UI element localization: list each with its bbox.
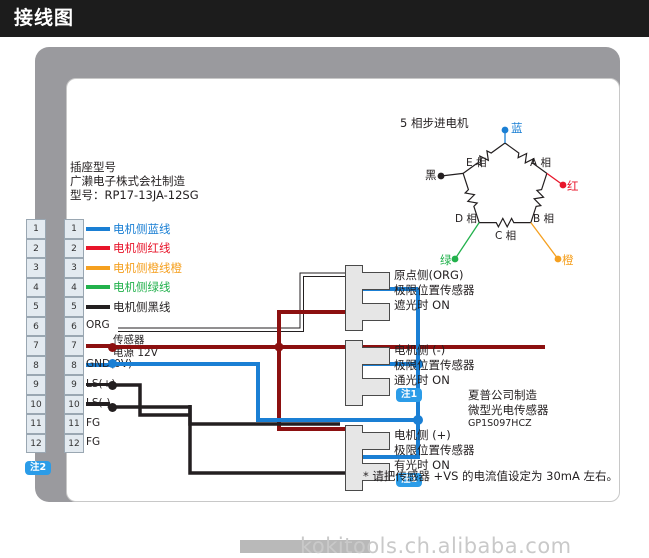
motor-lead-label-蓝: 蓝 (511, 121, 523, 136)
sensor-maker-model: GP1S097HCZ (468, 418, 532, 430)
watermark: kokitools.ch.alibaba.com (300, 534, 572, 558)
motor-phase-label-D 相: D 相 (455, 213, 477, 226)
sensor-maker-line1: 夏普公司制造 (468, 388, 537, 403)
motor-lead-dot-橙 (555, 256, 562, 263)
motor-lead-label-黑: 黑 (425, 168, 437, 183)
motor-pentagon-svg (0, 37, 649, 533)
motor-lead-dot-黑 (438, 173, 445, 180)
motor-lead-label-红: 红 (567, 179, 579, 194)
motor-lead-dot-红 (560, 182, 567, 189)
page-title: 接线图 (14, 6, 74, 30)
motor-phase-label-A 相: A 相 (530, 157, 551, 170)
motor-coil-edge-3 (479, 218, 531, 226)
diagram-canvas: 插座型号 广濑电子株式会社制造 型号：RP17-13JA-12SG 123456… (0, 37, 649, 533)
motor-phase-label-C 相: C 相 (495, 230, 516, 243)
motor-lead-label-橙: 橙 (562, 253, 574, 268)
motor-lead-橙 (531, 223, 558, 259)
motor-lead-label-绿: 绿 (440, 253, 452, 268)
sensor-maker-line2: 微型光电传感器 (468, 403, 549, 418)
header-bar: 接线图 (0, 0, 649, 37)
motor-phase-label-B 相: B 相 (533, 213, 554, 226)
motor-lead-dot-蓝 (502, 127, 509, 134)
footnote: * 请把传感器 +VS 的电流值设定为 30mA 左右。 (363, 469, 618, 484)
motor-lead-dot-绿 (452, 256, 459, 263)
motor-phase-label-E 相: E 相 (466, 157, 486, 170)
motor-lead-绿 (455, 223, 479, 259)
